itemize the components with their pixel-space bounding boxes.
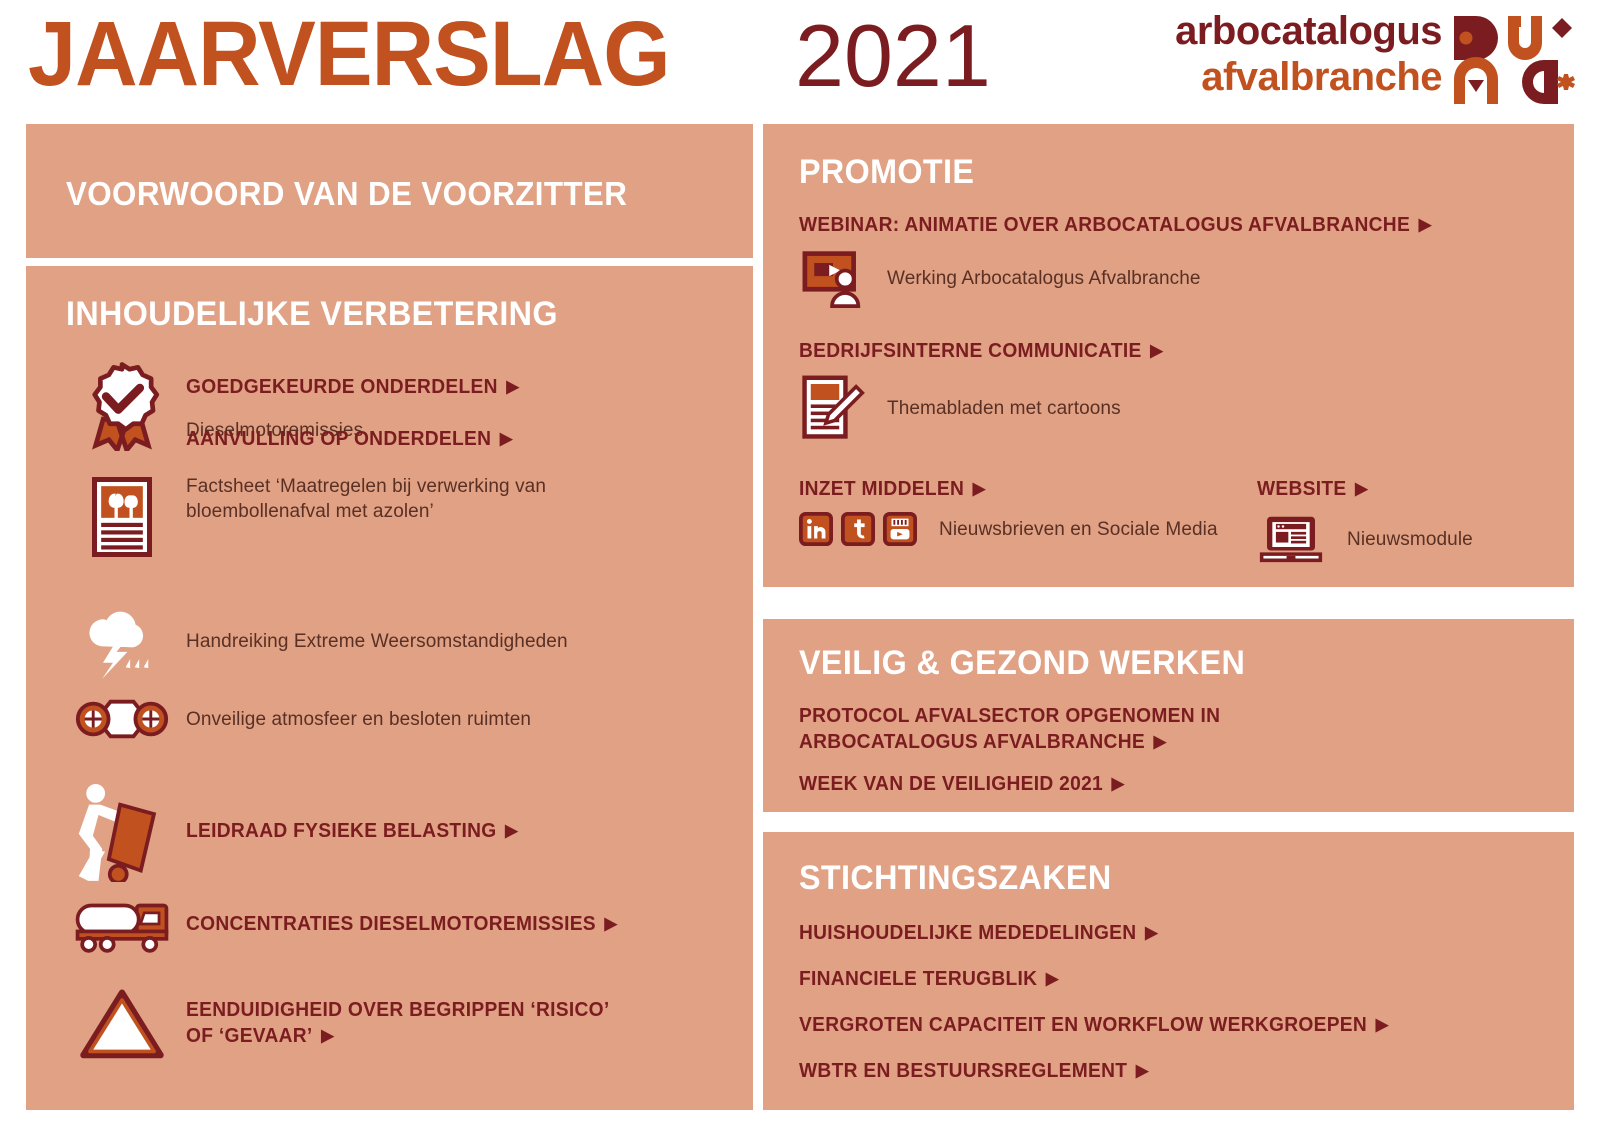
linkedin-icon [799, 512, 833, 546]
item-subtext: Werking Arbocatalogus Afvalbranche [887, 266, 1201, 291]
panel-voorwoord-van-de-voorzitter[interactable]: VOORWOORD VAN DE VOORZITTER [26, 124, 753, 258]
list-item[interactable]: Nieuwsmodule [1257, 510, 1473, 568]
page-title-year: 2021 [795, 10, 991, 102]
brand-logo-line2: afvalbranche [1132, 54, 1442, 100]
link-eenduidigheid-over-begrippen[interactable]: EENDUIDIGHEID OVER BEGRIPPEN ‘RISICO’ OF… [186, 997, 637, 1049]
chevron-right-icon: ▶ [1376, 1016, 1389, 1033]
link-aanvulling-op-onderdelen[interactable]: AANVULLING OP ONDERDELEN▶ [186, 426, 570, 452]
brand-logo-text: arbocatalogus afvalbranche [1132, 8, 1442, 100]
item-subtext: Nieuwsbrieven en Sociale Media [939, 517, 1218, 542]
twitter-icon [841, 512, 875, 546]
item-subtext: Handreiking Extreme Weersomstandigheden [186, 629, 568, 654]
link-website[interactable]: WEBSITE▶ [1257, 476, 1373, 502]
link-protocol-afvalsector[interactable]: PROTOCOL AFVALSECTOR OPGENOMEN IN ARBOCA… [799, 703, 1259, 755]
link-bedrijfsinterne-communicatie[interactable]: BEDRIJFSINTERNE COMMUNICATIE▶ [799, 338, 1178, 364]
chevron-right-icon: ▶ [500, 430, 513, 447]
chevron-right-icon: ▶ [605, 915, 618, 932]
item-subtext: Themabladen met cartoons [887, 396, 1121, 421]
panel-veilig-gezond-werken: VEILIG & GEZOND WERKEN PROTOCOL AFVALSEC… [763, 619, 1574, 812]
panel-title-promotie: PROMOTIE [799, 152, 974, 192]
brand-logo: arbocatalogus afvalbranche [1132, 8, 1592, 108]
item-subtext: Nieuwsmodule [1347, 527, 1473, 552]
link-concentraties-dieselmotoremissies[interactable]: CONCENTRATIES DIESELMOTOREMISSIES▶ [186, 911, 617, 937]
list-item[interactable]: LEIDRAAD FYSIEKE BELASTING▶ [72, 776, 752, 886]
chevron-right-icon: ▶ [1355, 480, 1368, 497]
duac-logo-mark-icon [1452, 14, 1580, 106]
link-label: WEEK VAN DE VEILIGHEID 2021 [799, 773, 1103, 795]
link-goedgekeurde-onderdelen[interactable]: GOEDGEKEURDE ONDERDELEN▶ [186, 374, 519, 400]
document-tulip-icon [72, 462, 172, 572]
list-item[interactable]: Themabladen met cartoons [799, 372, 1121, 444]
tanker-truck-icon [72, 886, 172, 961]
chevron-right-icon: ▶ [1154, 733, 1167, 750]
panel-promotie: PROMOTIE WEBINAR: ANIMATIE OVER ARBOCATA… [763, 124, 1574, 587]
list-item[interactable]: EENDUIDIGHEID OVER BEGRIPPEN ‘RISICO’ OF… [72, 980, 752, 1066]
page-title: JAARVERSLAG [28, 8, 670, 100]
chevron-right-icon: ▶ [1145, 924, 1158, 941]
link-financiele-terugblik[interactable]: FINANCIELE TERUGBLIK▶ [799, 966, 1070, 992]
panel-title-voorwoord: VOORWOORD VAN DE VOORZITTER [66, 174, 627, 214]
link-leidraad-fysieke-belasting[interactable]: LEIDRAAD FYSIEKE BELASTING▶ [186, 818, 518, 844]
link-huishoudelijke-mededelingen[interactable]: HUISHOUDELIJKE MEDEDELINGEN▶ [799, 920, 1173, 946]
chevron-right-icon: ▶ [1419, 216, 1432, 233]
list-item[interactable]: CONCENTRATIES DIESELMOTOREMISSIES▶ [72, 886, 752, 961]
panel-stichtingszaken: STICHTINGSZAKEN HUISHOUDELIJKE MEDEDELIN… [763, 832, 1574, 1110]
link-inzet-middelen[interactable]: INZET MIDDELEN▶ [799, 476, 993, 502]
link-label: WBTR EN BESTUURSREGLEMENT [799, 1060, 1127, 1082]
chevron-right-icon: ▶ [506, 378, 519, 395]
social-media-icons [799, 512, 917, 546]
link-label: VERGROTEN CAPACITEIT EN WORKFLOW WERKGRO… [799, 1014, 1367, 1036]
list-item[interactable]: Onveilige atmosfeer en besloten ruimten [72, 684, 752, 754]
chevron-right-icon: ▶ [1150, 342, 1163, 359]
chevron-right-icon: ▶ [1136, 1062, 1149, 1079]
chevron-right-icon: ▶ [1046, 970, 1059, 987]
link-wbtr-bestuursreglement[interactable]: WBTR EN BESTUURSREGLEMENT▶ [799, 1058, 1163, 1084]
panel-title-inhoudelijke-verbetering: INHOUDELIJKE VERBETERING [66, 294, 558, 334]
link-label: GOEDGEKEURDE ONDERDELEN [186, 376, 498, 398]
page-header: JAARVERSLAG 2021 arbocatalogus afvalbran… [0, 0, 1600, 118]
panel-title-veilig-gezond-werken: VEILIG & GEZOND WERKEN [799, 643, 1245, 683]
panel-inhoudelijke-verbetering: INHOUDELIJKE VERBETERING GOEDGEKEURDE ON… [26, 266, 753, 1110]
person-pushing-bin-icon [72, 776, 172, 886]
link-label: BEDRIJFSINTERNE COMMUNICATIE [799, 340, 1142, 362]
panel-title-stichtingszaken: STICHTINGSZAKEN [799, 858, 1112, 898]
list-item[interactable]: Werking Arbocatalogus Afvalbranche [799, 246, 1201, 310]
item-subtext: Onveilige atmosfeer en besloten ruimten [186, 707, 531, 732]
link-label: AANVULLING OP ONDERDELEN [186, 428, 491, 450]
respirator-mask-icon [72, 684, 172, 754]
list-item[interactable]: Handreiking Extreme Weersomstandigheden [72, 596, 752, 686]
youtube-icon [883, 512, 917, 546]
annual-report-infographic: JAARVERSLAG 2021 arbocatalogus afvalbran… [0, 0, 1600, 1131]
link-label: INZET MIDDELEN [799, 478, 964, 500]
item-subtext: Factsheet ‘Maatregelen bij verwerking va… [186, 474, 586, 524]
rosette-check-icon [72, 354, 172, 454]
link-label: HUISHOUDELIJKE MEDEDELINGEN [799, 922, 1136, 944]
link-week-van-de-veiligheid[interactable]: WEEK VAN DE VEILIGHEID 2021▶ [799, 771, 1138, 797]
chevron-right-icon: ▶ [973, 480, 986, 497]
brand-logo-line1: arbocatalogus [1132, 8, 1442, 54]
link-label: LEIDRAAD FYSIEKE BELASTING [186, 820, 496, 842]
webinar-presentation-icon [799, 246, 867, 310]
chevron-right-icon: ▶ [1112, 775, 1125, 792]
chevron-right-icon: ▶ [505, 822, 518, 839]
laptop-browser-icon [1257, 510, 1325, 568]
link-label: WEBINAR: ANIMATIE OVER ARBOCATALOGUS AFV… [799, 214, 1410, 236]
link-label: CONCENTRATIES DIESELMOTOREMISSIES [186, 913, 596, 935]
link-label: EENDUIDIGHEID OVER BEGRIPPEN ‘RISICO’ OF… [186, 999, 608, 1047]
link-webinar-animatie[interactable]: WEBINAR: ANIMATIE OVER ARBOCATALOGUS AFV… [799, 212, 1458, 238]
document-pen-icon [799, 372, 867, 444]
link-vergroten-capaciteit-workflow[interactable]: VERGROTEN CAPACITEIT EN WORKFLOW WERKGRO… [799, 1012, 1413, 1038]
list-item[interactable]: AANVULLING OP ONDERDELEN▶ Factsheet ‘Maa… [72, 462, 752, 572]
list-item[interactable]: Nieuwsbrieven en Sociale Media [799, 512, 1218, 546]
chevron-right-icon: ▶ [321, 1027, 334, 1044]
storm-cloud-lightning-icon [72, 596, 172, 686]
link-label: WEBSITE [1257, 478, 1346, 500]
warning-triangle-icon [72, 980, 172, 1066]
link-label: FINANCIELE TERUGBLIK [799, 968, 1037, 990]
